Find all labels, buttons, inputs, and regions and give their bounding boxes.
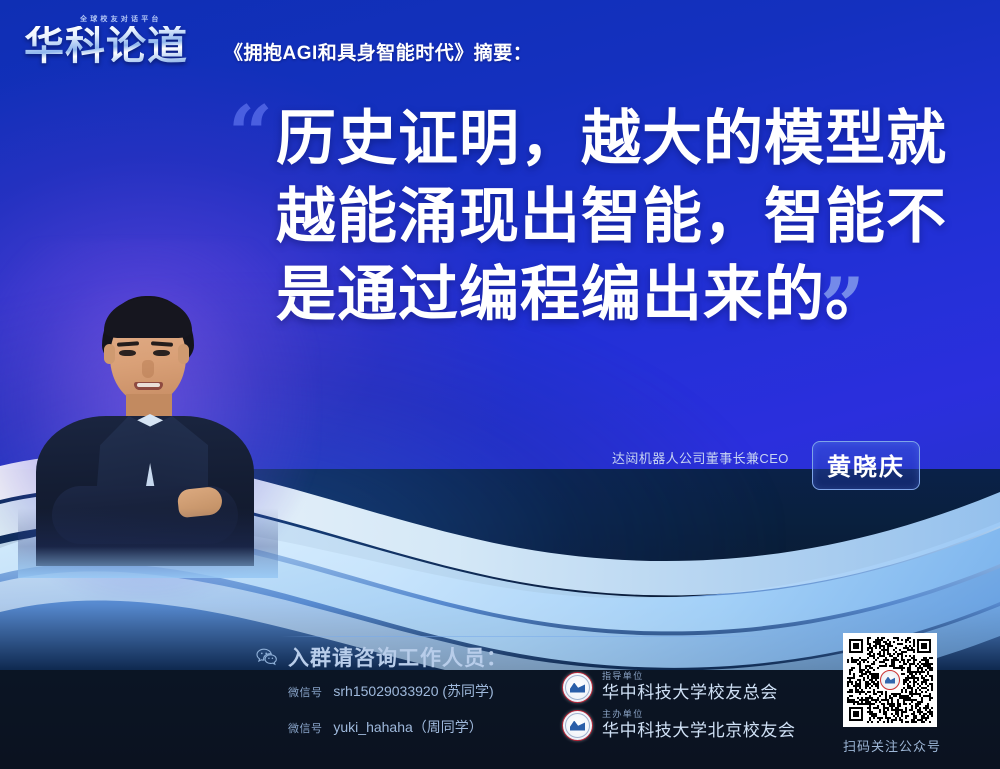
brand-logo: 全球校友对话平台 华科论道 bbox=[24, 14, 214, 76]
speaker-name-badge: 黄晓庆 bbox=[812, 441, 920, 490]
hust-emblem-icon bbox=[562, 710, 593, 741]
wechat-icon bbox=[256, 648, 278, 666]
qr-caption: 扫码关注公众号 bbox=[843, 736, 941, 755]
contact-value-1: srh15029033920 (苏同学) bbox=[333, 683, 493, 699]
speaker-title: 达闼机器人公司董事长兼CEO bbox=[612, 448, 789, 467]
speaker-portrait bbox=[28, 290, 258, 550]
contact-tag-1: 微信号 bbox=[288, 687, 323, 699]
portrait-eye-right bbox=[153, 350, 170, 356]
portrait-nose bbox=[142, 360, 154, 378]
poster-canvas: 全球校友对话平台 华科论道 《拥抱AGI和具身智能时代》摘要： “ 历史证明，越… bbox=[0, 0, 1000, 769]
contact-row-1: 微信号 srh15029033920 (苏同学) bbox=[288, 681, 494, 701]
organization-name-1: 华中科技大学校友总会 bbox=[602, 684, 778, 702]
organization-name-2: 华中科技大学北京校友会 bbox=[602, 722, 796, 740]
organization-kind-2: 主办单位 bbox=[602, 710, 796, 720]
portrait-ear-left bbox=[104, 344, 115, 364]
portrait-teeth bbox=[137, 383, 160, 387]
quote-line-1: 历史证明，越大的模型就 bbox=[276, 100, 956, 178]
qr-center-logo-icon bbox=[880, 670, 900, 690]
qr-code[interactable] bbox=[843, 633, 937, 727]
speaker-credit: 达闼机器人公司董事长兼CEO bbox=[612, 448, 789, 467]
portrait-bottom-fade bbox=[18, 508, 278, 578]
footer-divider bbox=[281, 636, 786, 637]
contact-heading: 入群请咨询工作人员： bbox=[288, 642, 508, 672]
organization-host: 主办单位 华中科技大学北京校友会 bbox=[562, 710, 796, 741]
logo-wordmark: 华科论道 bbox=[24, 26, 188, 66]
portrait-ear-right bbox=[178, 344, 189, 364]
organization-guidance: 指导单位 华中科技大学校友总会 bbox=[562, 672, 778, 703]
contact-value-2: yuki_hahaha（周同学） bbox=[333, 719, 482, 735]
quote-close-mark: ” bbox=[820, 268, 865, 346]
quote-open-mark: “ bbox=[228, 96, 273, 174]
organization-kind-1: 指导单位 bbox=[602, 672, 778, 682]
qr-section: 扫码关注公众号 bbox=[843, 633, 941, 755]
contact-row-2: 微信号 yuki_hahaha（周同学） bbox=[288, 717, 483, 737]
portrait-eye-left bbox=[119, 350, 136, 356]
quote-line-2: 越能涌现出智能，智能不 bbox=[276, 178, 956, 256]
hust-emblem-icon bbox=[562, 672, 593, 703]
header-subtitle: 《拥抱AGI和具身智能时代》摘要： bbox=[224, 38, 532, 65]
contact-tag-2: 微信号 bbox=[288, 723, 323, 735]
header-bar: 全球校友对话平台 华科论道 《拥抱AGI和具身智能时代》摘要： bbox=[0, 0, 1000, 92]
